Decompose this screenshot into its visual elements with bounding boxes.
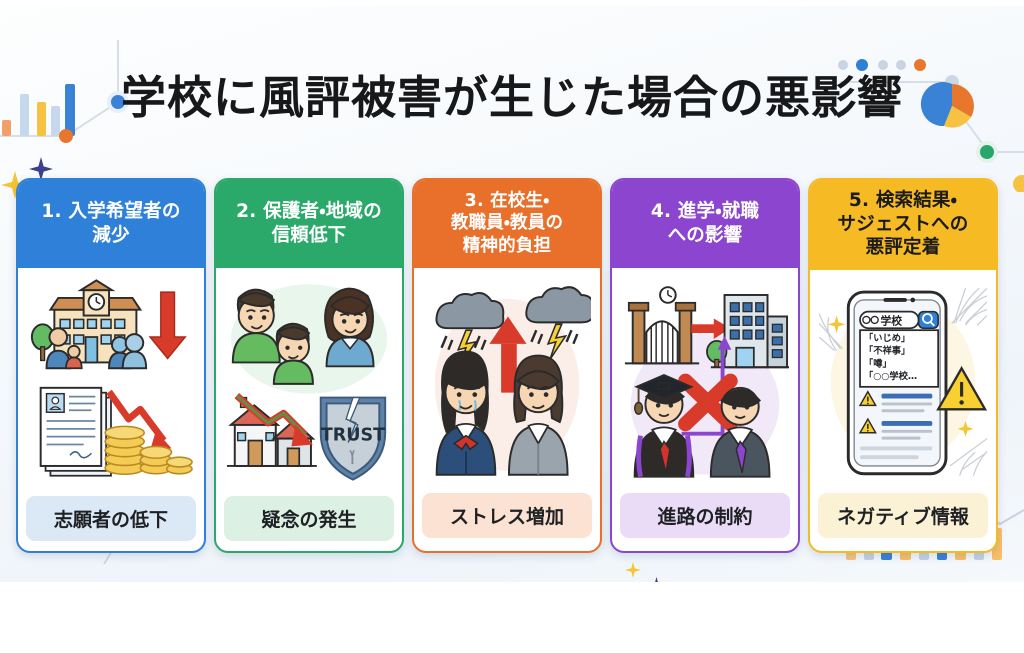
card-3-chip: ストレス増加 (422, 493, 592, 538)
sparkle-icon (828, 315, 846, 333)
card-3-heading-line-2: 教職員・教員の (451, 213, 563, 233)
card-4-heading-line-2: への影響 (668, 225, 743, 246)
card-5-chip: ネガティブ情報 (818, 493, 988, 538)
card-1-heading-line-1: 1. 入学希望者の (41, 201, 180, 222)
card-1-header: 1. 入学希望者の 減少 (18, 180, 204, 268)
screenshot-root: 学校に風評被害が生じた場合の悪影響 1. 入学希望者の 減少 (0, 0, 1024, 653)
card-5-footer: ネガティブ情報 (810, 485, 996, 551)
card-2-footer: 疑念の発生 (216, 488, 402, 553)
school-gate-office-blocked-path-illustration (621, 279, 789, 479)
page-title: 学校に風評被害が生じた場合の悪影響 (121, 61, 903, 126)
card-2-chip: 疑念の発生 (224, 496, 394, 541)
impact-card-list: 1. 入学希望者の 減少 (16, 178, 1008, 553)
card-4-chip: 進路の制約 (620, 493, 790, 538)
card-1-heading-line-2: 減少 (92, 225, 129, 246)
smartphone-search-suggestions-illustration: 学校 「いじめ」 「不祥事」 「噂」 「○○学校… (819, 282, 987, 478)
card-3-header: 3. 在校生・ 教職員・教員の 精神的負担 (414, 180, 600, 268)
slide-canvas: 学校に風評被害が生じた場合の悪影響 1. 入学希望者の 減少 (0, 6, 1024, 634)
suggestion-1: 「いじめ」 (864, 331, 910, 343)
card-4-heading-line-1: 4. 進学・就職 (651, 201, 759, 222)
card-1-illustration (18, 268, 204, 488)
card-3-illustration (414, 268, 600, 485)
impact-card-4[interactable]: 4. 進学・就職 への影響 (610, 178, 800, 553)
page-title-wrap: 学校に風評被害が生じた場合の悪影響 (0, 58, 1024, 128)
card-5-heading-line-2: サジェストへの (838, 214, 969, 235)
sparkle-gold-small-icon (625, 562, 641, 578)
card-5-header: 5. 検索結果・ サジェストへの 悪評定着 (810, 180, 996, 270)
suggestion-2: 「不祥事」 (864, 344, 910, 356)
card-4-header: 4. 進学・就職 への影響 (612, 180, 798, 268)
card-5-illustration: 学校 「いじめ」 「不祥事」 「噂」 「○○学校… (810, 270, 996, 485)
school-building-declining-applicants-illustration (27, 274, 195, 486)
card-4-illustration (612, 268, 798, 485)
card-5-heading-line-1: 5. 検索結果・ (849, 190, 957, 211)
storm-clouds-stressed-student-teacher-illustration (423, 281, 591, 477)
card-1-chip: 志願者の低下 (26, 496, 196, 541)
suggestion-3: 「噂」 (864, 357, 892, 369)
worried-family-broken-trust-shield-illustration: TRUST (225, 274, 393, 486)
card-2-illustration: TRUST (216, 268, 402, 488)
card-3-heading-line-1: 3. 在校生・ (465, 191, 550, 211)
card-3-heading-line-3: 精神的負担 (463, 236, 552, 256)
spider-web-top-right-icon (952, 288, 987, 325)
suggestion-4: 「○○学校… (864, 370, 917, 382)
card-2-heading-line-1: 2. 保護者・地域の (236, 201, 382, 222)
card-4-footer: 進路の制約 (612, 485, 798, 551)
trust-shield-label: TRUST (321, 426, 385, 446)
impact-card-5[interactable]: 5. 検索結果・ サジェストへの 悪評定着 (808, 178, 998, 553)
phone-search-query: 学校 (881, 314, 903, 327)
card-3-footer: ストレス増加 (414, 485, 600, 551)
impact-card-1[interactable]: 1. 入学希望者の 減少 (16, 178, 206, 553)
spider-web-left-icon (819, 313, 842, 350)
card-2-heading-line-2: 信頼低下 (272, 225, 347, 246)
spider-web-bottom-right-icon (950, 438, 987, 475)
impact-card-3[interactable]: 3. 在校生・ 教職員・教員の 精神的負担 (412, 178, 602, 553)
card-1-footer: 志願者の低下 (18, 488, 204, 553)
impact-card-2[interactable]: 2. 保護者・地域の 信頼低下 (214, 178, 404, 553)
card-2-header: 2. 保護者・地域の 信頼低下 (216, 180, 402, 268)
sparkle-navy-small-icon (650, 577, 663, 590)
card-5-heading-line-3: 悪評定着 (866, 237, 941, 258)
